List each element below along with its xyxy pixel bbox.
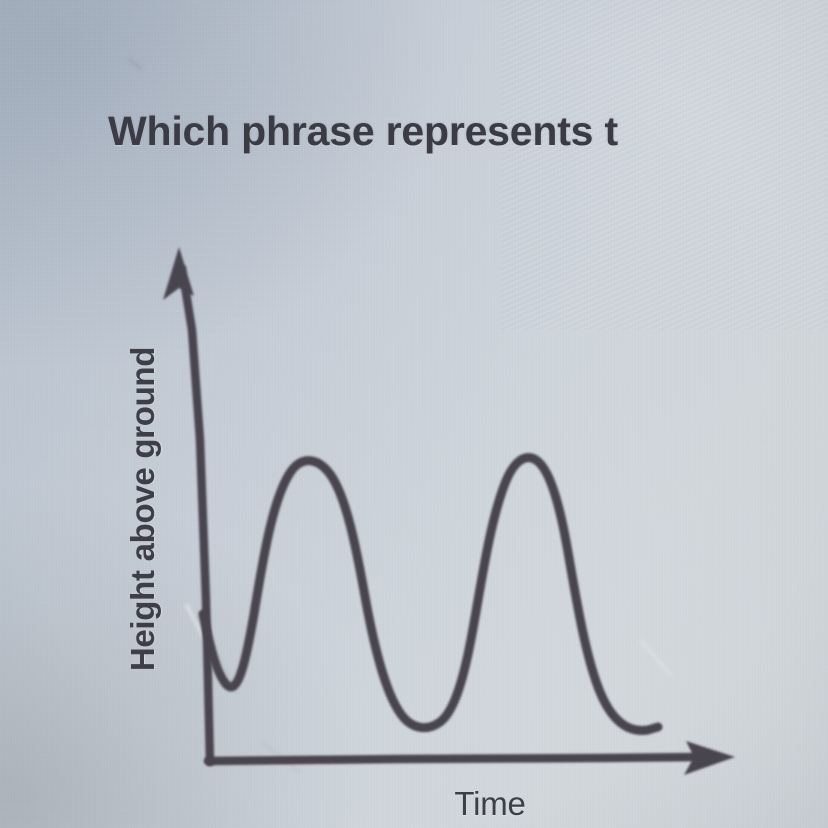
x-axis [208, 741, 735, 775]
height-vs-time-graph: Height above ground Time [0, 0, 828, 828]
height-curve [203, 458, 658, 731]
arrow-up-icon [163, 247, 194, 300]
y-axis-label: Height above ground [124, 344, 162, 674]
screenshot-root: Which phrase represents t [0, 0, 828, 828]
y-axis [163, 247, 210, 762]
x-axis-label: Time [345, 785, 635, 823]
